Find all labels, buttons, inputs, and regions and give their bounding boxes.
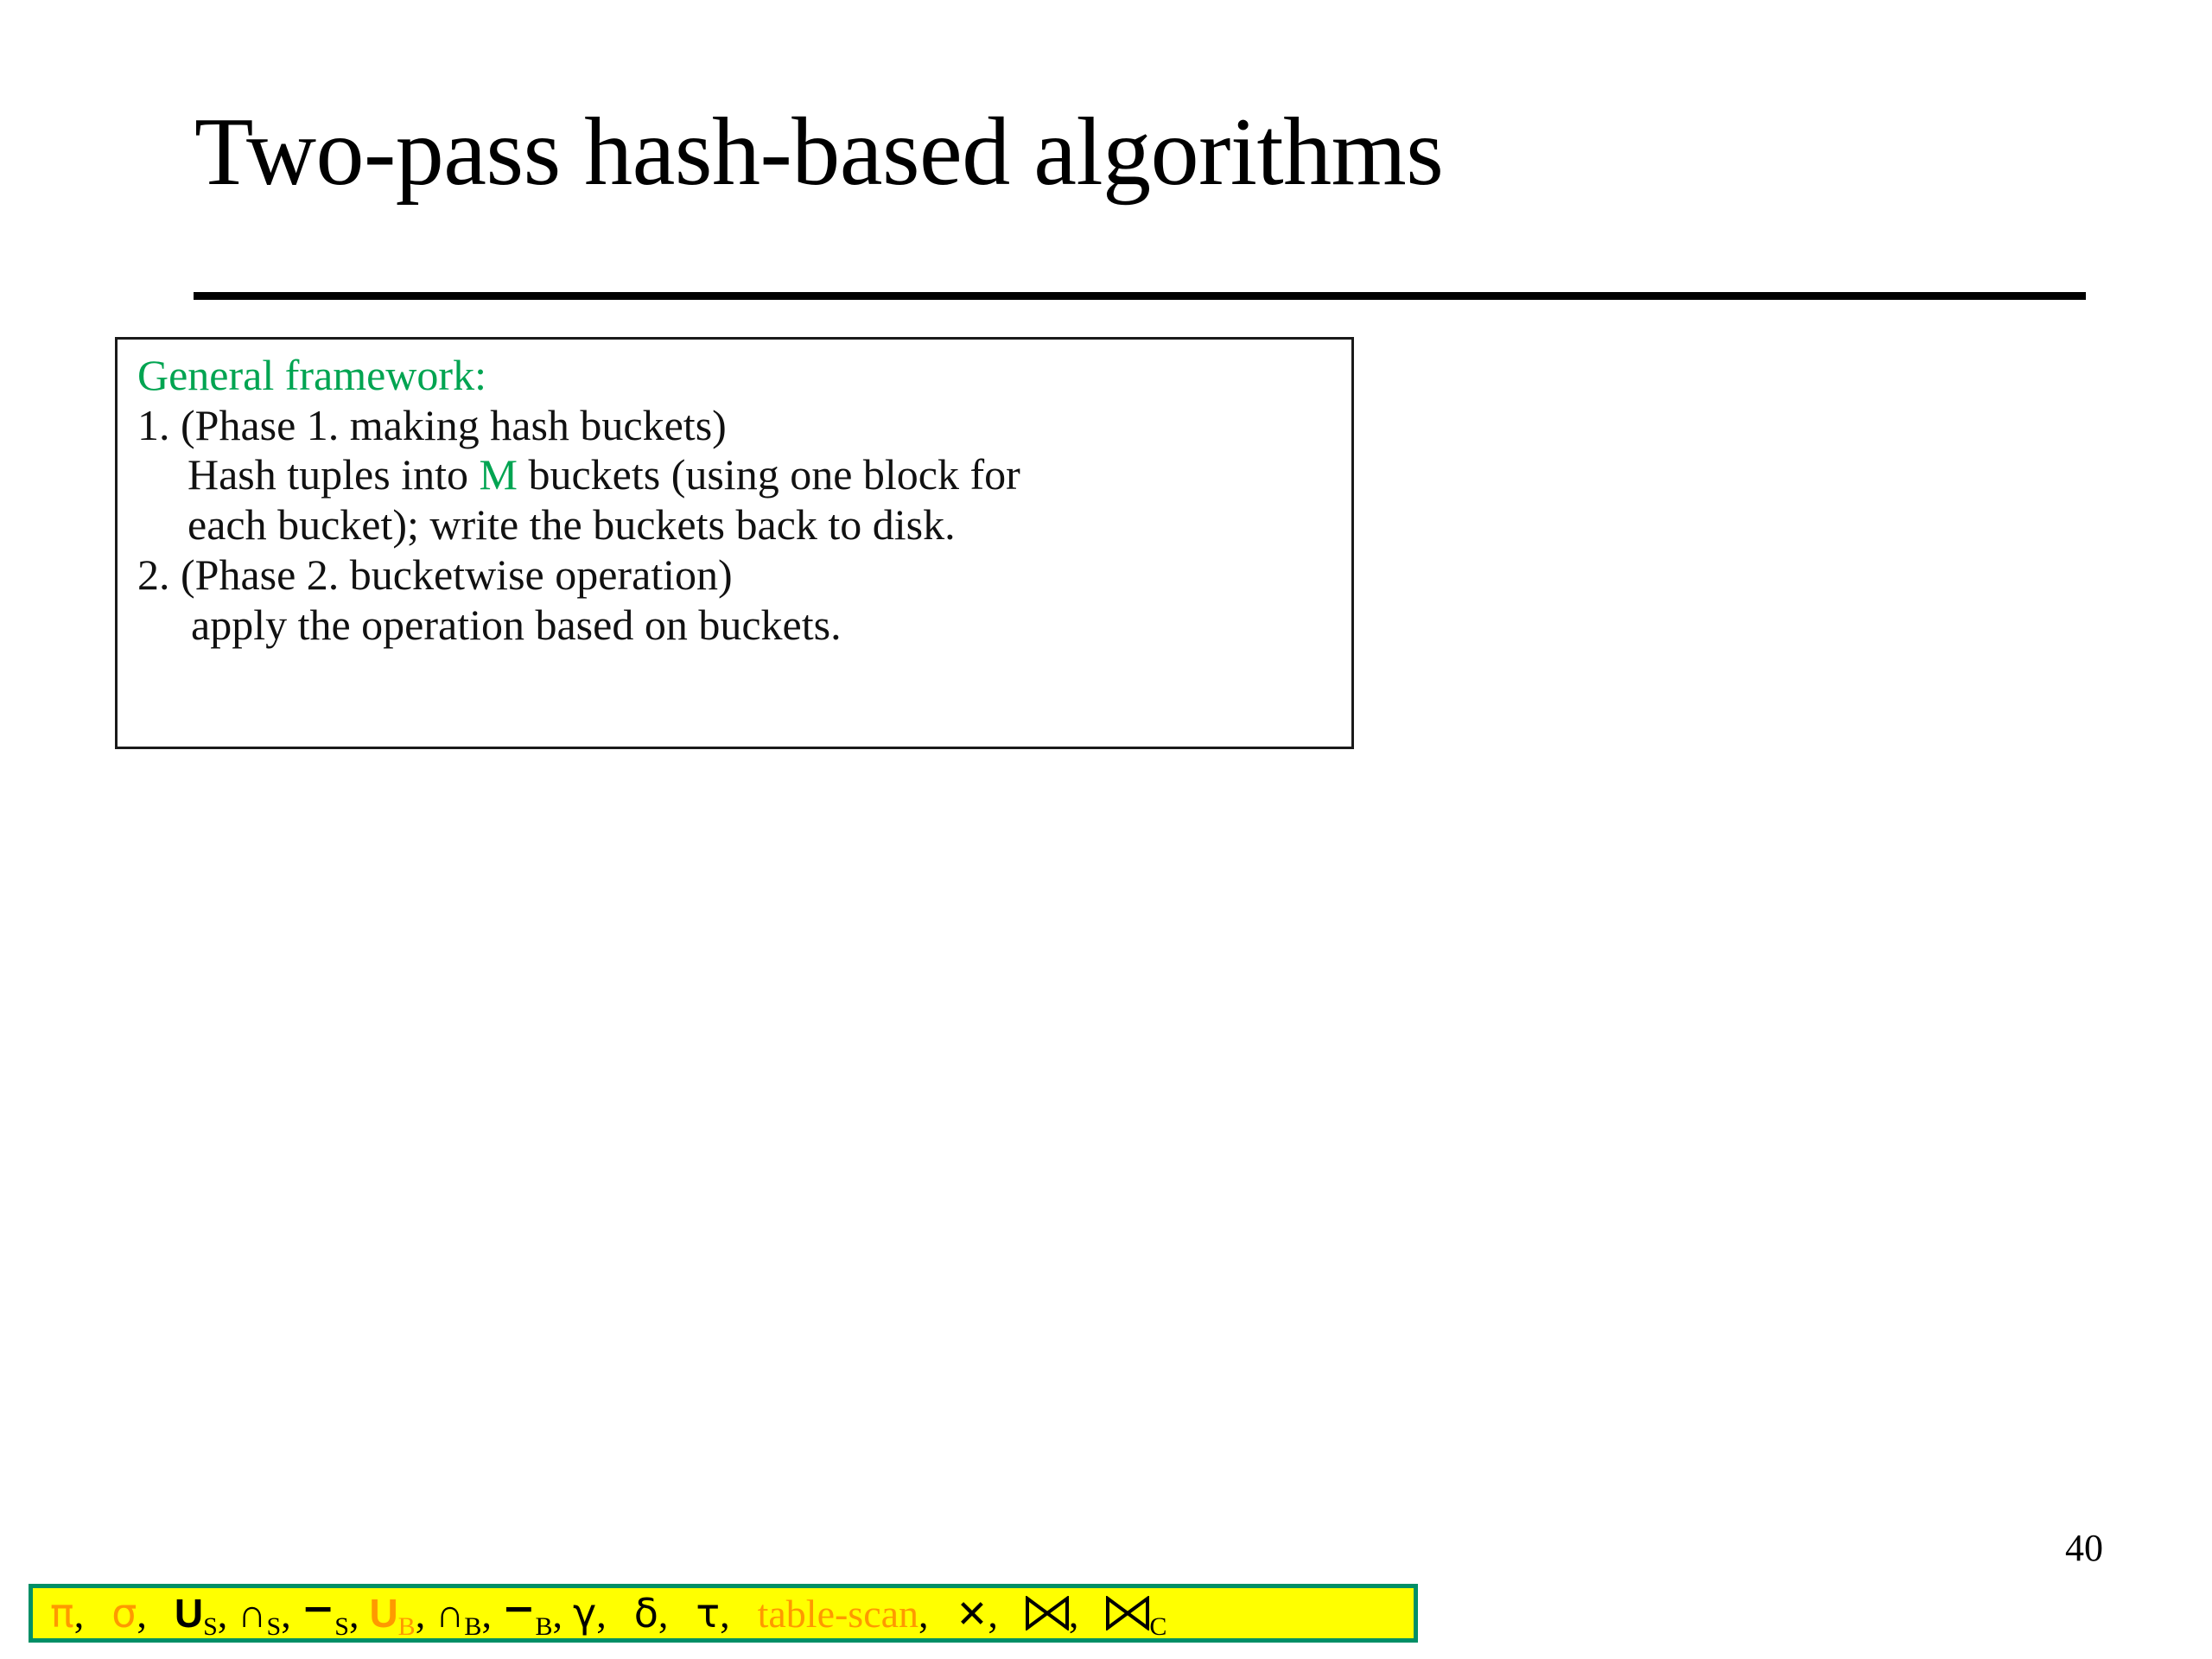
operator-1: σ <box>111 1593 137 1633</box>
operator-symbol: U <box>369 1593 397 1633</box>
operator-subscript: B <box>535 1614 552 1640</box>
highlight-M: M <box>479 450 517 499</box>
operator-0: π <box>50 1593 74 1633</box>
operator-subscript: C <box>1149 1614 1166 1640</box>
join-bowtie-icon <box>1026 1596 1069 1630</box>
list-item-step1-detail-b: each bucket); write the buckets back to … <box>137 500 1343 550</box>
operator-separator: , <box>720 1594 741 1634</box>
operator-separator: , <box>553 1594 574 1634</box>
operator-5: UB <box>369 1593 415 1633</box>
operator-13 <box>1026 1592 1069 1627</box>
operator-12: ✕ <box>957 1596 988 1634</box>
general-framework-box-content: General framework: 1. (Phase 1. making h… <box>137 350 1343 650</box>
title-underline-rule <box>194 292 2086 300</box>
list-item-step1: 1. (Phase 1. making hash buckets) <box>137 401 1343 451</box>
step1-detail-text-before: Hash tuples into <box>188 450 479 499</box>
operator-separator: , <box>281 1594 302 1634</box>
operator-2: US <box>175 1593 218 1633</box>
list-item-step2: 2. (Phase 2. bucketwise operation) <box>137 550 1343 601</box>
operator-separator: , <box>658 1594 679 1634</box>
operator-7: −B <box>502 1593 553 1633</box>
page-number: 40 <box>2065 1526 2103 1570</box>
list-item-step2-detail: apply the operation based on buckets. <box>137 601 1343 651</box>
join-bowtie-icon <box>1106 1596 1149 1630</box>
operator-14: C <box>1106 1592 1166 1632</box>
operator-9: δ <box>634 1593 658 1633</box>
page-title: Two-pass hash-based algorithms <box>194 104 2087 200</box>
operator-symbol: U <box>175 1593 203 1633</box>
operator-symbol: τ <box>696 1593 720 1633</box>
step1-detail-text-after: buckets (using one block for <box>518 450 1020 499</box>
relational-operator-bar: π,σ,US,∩S,−S,UB,∩B,−B,γ,δ,τ,table-scan,✕… <box>29 1584 1418 1643</box>
operator-separator: , <box>416 1594 436 1634</box>
operator-separator: , <box>988 1594 1008 1634</box>
operator-subscript: S <box>334 1614 349 1640</box>
operator-subscript: B <box>464 1614 481 1640</box>
operator-separator: , <box>349 1594 370 1634</box>
operator-separator: , <box>137 1594 157 1634</box>
operator-symbol: π <box>50 1593 74 1633</box>
operator-symbol: table-scan <box>758 1594 918 1634</box>
operator-separator: , <box>74 1594 95 1634</box>
operator-3: ∩S <box>238 1593 281 1633</box>
operator-symbol: σ <box>111 1593 137 1633</box>
operator-symbol: − <box>302 1588 335 1628</box>
operator-10: τ <box>696 1593 720 1633</box>
framework-steps-list: 1. (Phase 1. making hash buckets) Hash t… <box>137 401 1343 651</box>
operator-separator: , <box>596 1594 617 1634</box>
list-item-step1-detail-a: Hash tuples into M buckets (using one bl… <box>137 450 1343 500</box>
operator-separator: , <box>481 1594 502 1634</box>
operator-separator: , <box>218 1594 238 1634</box>
operator-4: −S <box>302 1593 349 1633</box>
operator-separator: , <box>918 1594 939 1634</box>
operator-symbol: ✕ <box>957 1596 988 1634</box>
operator-symbol: − <box>502 1588 536 1628</box>
operator-separator: , <box>1069 1594 1090 1634</box>
operator-8: γ <box>573 1593 596 1633</box>
operator-symbol: δ <box>634 1593 658 1633</box>
operator-subscript: S <box>203 1614 218 1640</box>
operator-6: ∩B <box>435 1593 481 1633</box>
operator-subscript: S <box>267 1614 282 1640</box>
general-framework-box: General framework: 1. (Phase 1. making h… <box>115 337 1354 749</box>
general-framework-heading: General framework: <box>137 350 1343 401</box>
operator-subscript: B <box>398 1614 416 1640</box>
operator-symbol: ∩ <box>435 1593 464 1633</box>
operator-symbol: ∩ <box>238 1593 266 1633</box>
operator-table-scan: table-scan <box>758 1594 918 1634</box>
operator-list: π,σ,US,∩S,−S,UB,∩B,−B,γ,δ,τ,table-scan,✕… <box>50 1592 1166 1634</box>
operator-symbol: γ <box>573 1593 596 1633</box>
